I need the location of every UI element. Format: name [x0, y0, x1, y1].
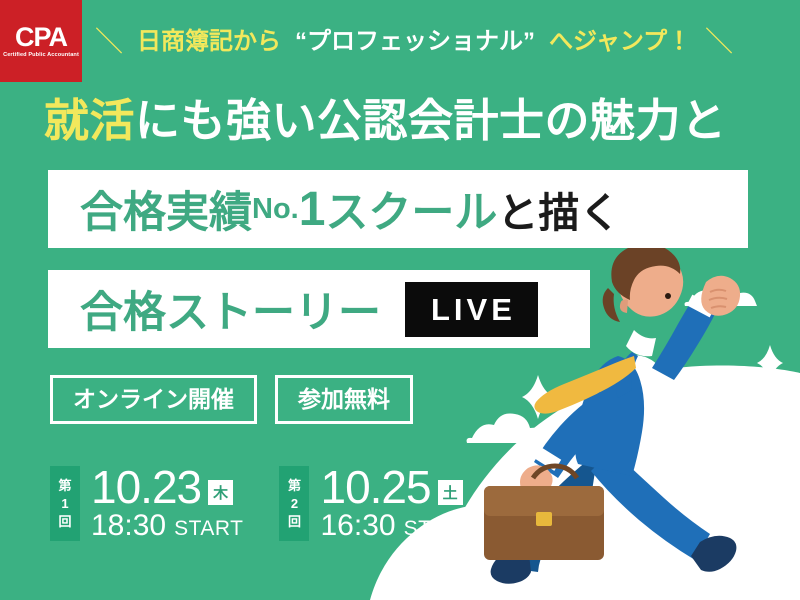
session-1-date-row: 10.23 木	[91, 466, 243, 510]
box1-green-text: 合格実績	[80, 178, 252, 240]
tie	[534, 356, 636, 414]
session-2-date-row: 10.25 土	[320, 466, 472, 510]
cuff	[532, 446, 561, 471]
ear	[620, 300, 628, 313]
logo-subtitle-text: Certified Public Accountant	[3, 53, 79, 59]
sparkle-icon	[757, 345, 783, 381]
box2-green-text: 合格ストーリー	[80, 278, 381, 340]
box1-black-text: と描く	[497, 179, 620, 239]
session-2-char-1: 第	[288, 479, 301, 492]
eye	[665, 293, 671, 299]
hair-back	[603, 288, 620, 322]
briefcase-handle	[533, 466, 577, 478]
cloud-icon	[418, 430, 480, 448]
session-2-time: 16:30	[320, 511, 395, 541]
box1-green-tail: スクール	[325, 178, 497, 240]
tag-list: オンライン開催 参加無料	[50, 375, 413, 424]
logo-mark-text: CPA	[15, 24, 67, 51]
live-badge: LIVE	[405, 282, 538, 337]
cloud-icon	[427, 428, 511, 447]
session-2-badge: 第 2 回	[279, 466, 309, 541]
session-2-dow: 土	[438, 480, 463, 505]
session-item-1: 第 1 回 10.23 木 18:30 START	[50, 466, 243, 541]
hair	[611, 243, 680, 300]
slash-left-icon: ＼	[95, 28, 123, 56]
sparkle-icon	[522, 375, 554, 419]
kicker-part-2: “プロフェッショナル”	[295, 30, 535, 54]
briefcase-flap	[484, 486, 604, 516]
briefcase-clasp	[536, 512, 552, 526]
session-2-details: 10.25 土 16:30 START	[320, 466, 472, 541]
front-shoe	[691, 536, 736, 572]
jacket-collar	[616, 352, 638, 398]
slash-right-icon: ／	[705, 28, 733, 56]
headline-rest: にも強い公認会計士の魅力と	[135, 95, 727, 146]
session-2-number: 2	[291, 497, 298, 510]
cloud-icon	[467, 413, 549, 443]
head	[618, 252, 683, 317]
headline-box-primary: 合格実績No.1スクールと描く	[48, 170, 748, 248]
box1-no-label: No.	[252, 193, 299, 226]
shirt	[600, 355, 668, 455]
box1-no-value: 1	[299, 182, 326, 237]
session-1-time: 18:30	[91, 511, 166, 541]
session-2-char-2: 回	[288, 515, 301, 528]
hand	[520, 465, 553, 496]
cloud-icon	[685, 281, 757, 306]
headline-box-secondary: 合格ストーリー LIVE	[48, 270, 590, 348]
session-1-details: 10.23 木 18:30 START	[91, 466, 243, 541]
front-leg	[591, 450, 710, 560]
session-1-char-2: 回	[58, 515, 71, 528]
session-2-date: 10.25	[320, 466, 430, 510]
tag-online: オンライン開催	[50, 375, 257, 424]
session-item-2: 第 2 回 10.25 土 16:30 START	[279, 466, 472, 541]
cpa-logo[interactable]: CPA Certified Public Accountant	[0, 0, 82, 82]
session-1-date: 10.23	[91, 466, 201, 510]
lowered-arm	[534, 392, 618, 478]
session-1-badge: 第 1 回	[50, 466, 80, 541]
kicker-line: ＼ 日商簿記から “プロフェッショナル” へジャンプ！ ／	[95, 28, 733, 56]
back-leg	[508, 452, 598, 572]
fist	[701, 276, 740, 316]
session-2-time-row: 16:30 START	[320, 511, 472, 541]
briefcase	[484, 486, 604, 560]
cuff	[687, 295, 716, 318]
session-1-dow: 木	[208, 480, 233, 505]
fist-detail	[709, 290, 727, 308]
promo-banner: CPA Certified Public Accountant ＼ 日商簿記から…	[0, 0, 800, 600]
tag-free: 参加無料	[275, 375, 413, 424]
hill-shape	[430, 365, 800, 600]
session-1-time-row: 18:30 START	[91, 511, 243, 541]
raised-arm	[652, 300, 716, 380]
page-title: 就活にも強い公認会計士の魅力と	[44, 97, 727, 144]
session-1-start-label: START	[174, 517, 243, 541]
session-2-start-label: START	[404, 517, 473, 541]
session-list: 第 1 回 10.23 木 18:30 START 第 2 回	[50, 466, 473, 541]
shirt-collar	[626, 330, 656, 356]
headline-highlight: 就活	[44, 95, 135, 146]
kicker-part-1: 日商簿記から	[137, 30, 281, 54]
kicker-part-3: へジャンプ！	[549, 30, 691, 54]
session-1-number: 1	[61, 497, 68, 510]
back-shoe	[491, 552, 531, 584]
session-1-char-1: 第	[58, 479, 71, 492]
jacket	[575, 356, 644, 476]
